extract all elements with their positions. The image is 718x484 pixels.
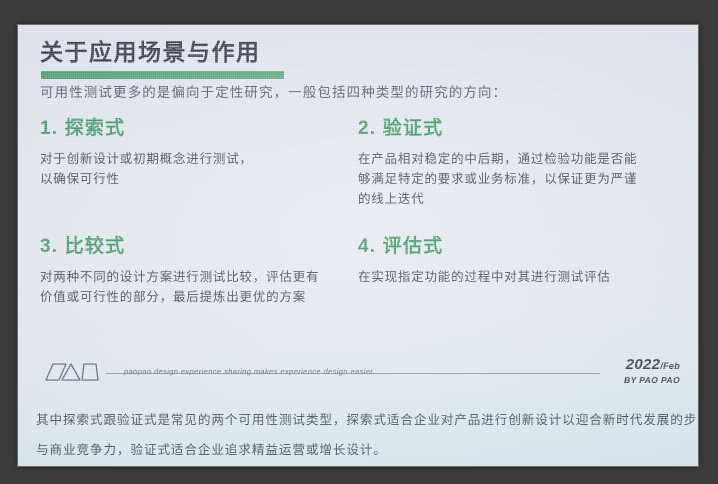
item-body: 对两种不同的设计方案进行测试比较，评估更有 价值或可行性的部分，最后提炼出更优的… — [40, 267, 336, 307]
item-heading: 4. 评估式 — [358, 235, 676, 259]
item-body-line: 够满足特定的要求或业务标准，以保证更为严谨 — [358, 169, 658, 189]
footer-year: 2022 — [626, 356, 661, 373]
item-heading: 3. 比较式 — [40, 235, 358, 259]
item-body-line: 对两种不同的设计方案进行测试比较，评估更有 — [40, 267, 336, 287]
item-body-line: 以确保可行性 — [40, 169, 330, 189]
paopao-logo-icon — [40, 360, 102, 389]
page-title: 关于应用场景与作用 — [40, 37, 261, 67]
item-body-line: 在实现指定功能的过程中对其进行测试评估 — [358, 267, 648, 287]
footer-date: 2022/Feb — [624, 356, 680, 375]
page-title-group: 关于应用场景与作用 — [40, 37, 261, 67]
footer-meta: 2022/Feb BY PAO PAO — [624, 356, 680, 386]
slide-footer: paopao design experience sharing makes e… — [18, 355, 698, 397]
page-subtitle: 可用性测试更多的是偏向于定性研究，一般包括四种类型的研究的方向： — [40, 81, 507, 101]
caption-line: 与商业竞争力，验证式适合企业追求精益运营或增长设计。 — [36, 439, 387, 458]
item-body-line: 对于创新设计或初期概念进行测试， — [40, 149, 330, 169]
list-item-exploratory: 1. 探索式 对于创新设计或初期概念进行测试， 以确保可行性 — [40, 117, 358, 209]
screen-frame: 关于应用场景与作用 可用性测试更多的是偏向于定性研究，一般包括四种类型的研究的方… — [0, 0, 718, 484]
item-body-line: 在产品相对稳定的中后期，通过检验功能是否能 — [358, 149, 658, 169]
footer-byline: BY PAO PAO — [624, 375, 680, 386]
usability-test-types-grid: 1. 探索式 对于创新设计或初期概念进行测试， 以确保可行性 2. 验证式 在产… — [40, 117, 676, 307]
item-heading: 1. 探索式 — [40, 117, 358, 141]
footer-tagline: paopao design experience sharing makes e… — [120, 367, 379, 376]
slide-main-panel: 关于应用场景与作用 可用性测试更多的是偏向于定性研究，一般包括四种类型的研究的方… — [18, 25, 698, 390]
list-item-comparative: 3. 比较式 对两种不同的设计方案进行测试比较，评估更有 价值或可行性的部分，最… — [40, 235, 358, 307]
list-item-assessment: 4. 评估式 在实现指定功能的过程中对其进行测试评估 — [358, 235, 676, 307]
item-heading: 2. 验证式 — [358, 117, 676, 141]
list-item-validation: 2. 验证式 在产品相对稳定的中后期，通过检验功能是否能 够满足特定的要求或业务… — [358, 117, 676, 209]
slide-card: 关于应用场景与作用 可用性测试更多的是偏向于定性研究，一般包括四种类型的研究的方… — [18, 25, 698, 466]
title-underline-highlight — [41, 71, 284, 79]
item-body-line: 价值或可行性的部分，最后提炼出更优的方案 — [40, 287, 336, 307]
item-body: 对于创新设计或初期概念进行测试， 以确保可行性 — [40, 149, 330, 189]
slide-caption-panel: 其中探索式跟验证式是常见的两个可用性测试类型，探索式适合企业对产品进行创新设计以… — [18, 397, 698, 466]
item-body: 在产品相对稳定的中后期，通过检验功能是否能 够满足特定的要求或业务标准，以保证更… — [358, 149, 658, 209]
caption-line: 其中探索式跟验证式是常见的两个可用性测试类型，探索式适合企业对产品进行创新设计以… — [36, 409, 698, 428]
footer-month: /Feb — [660, 361, 680, 371]
item-body: 在实现指定功能的过程中对其进行测试评估 — [358, 267, 648, 287]
item-body-line: 的线上迭代 — [358, 189, 658, 209]
